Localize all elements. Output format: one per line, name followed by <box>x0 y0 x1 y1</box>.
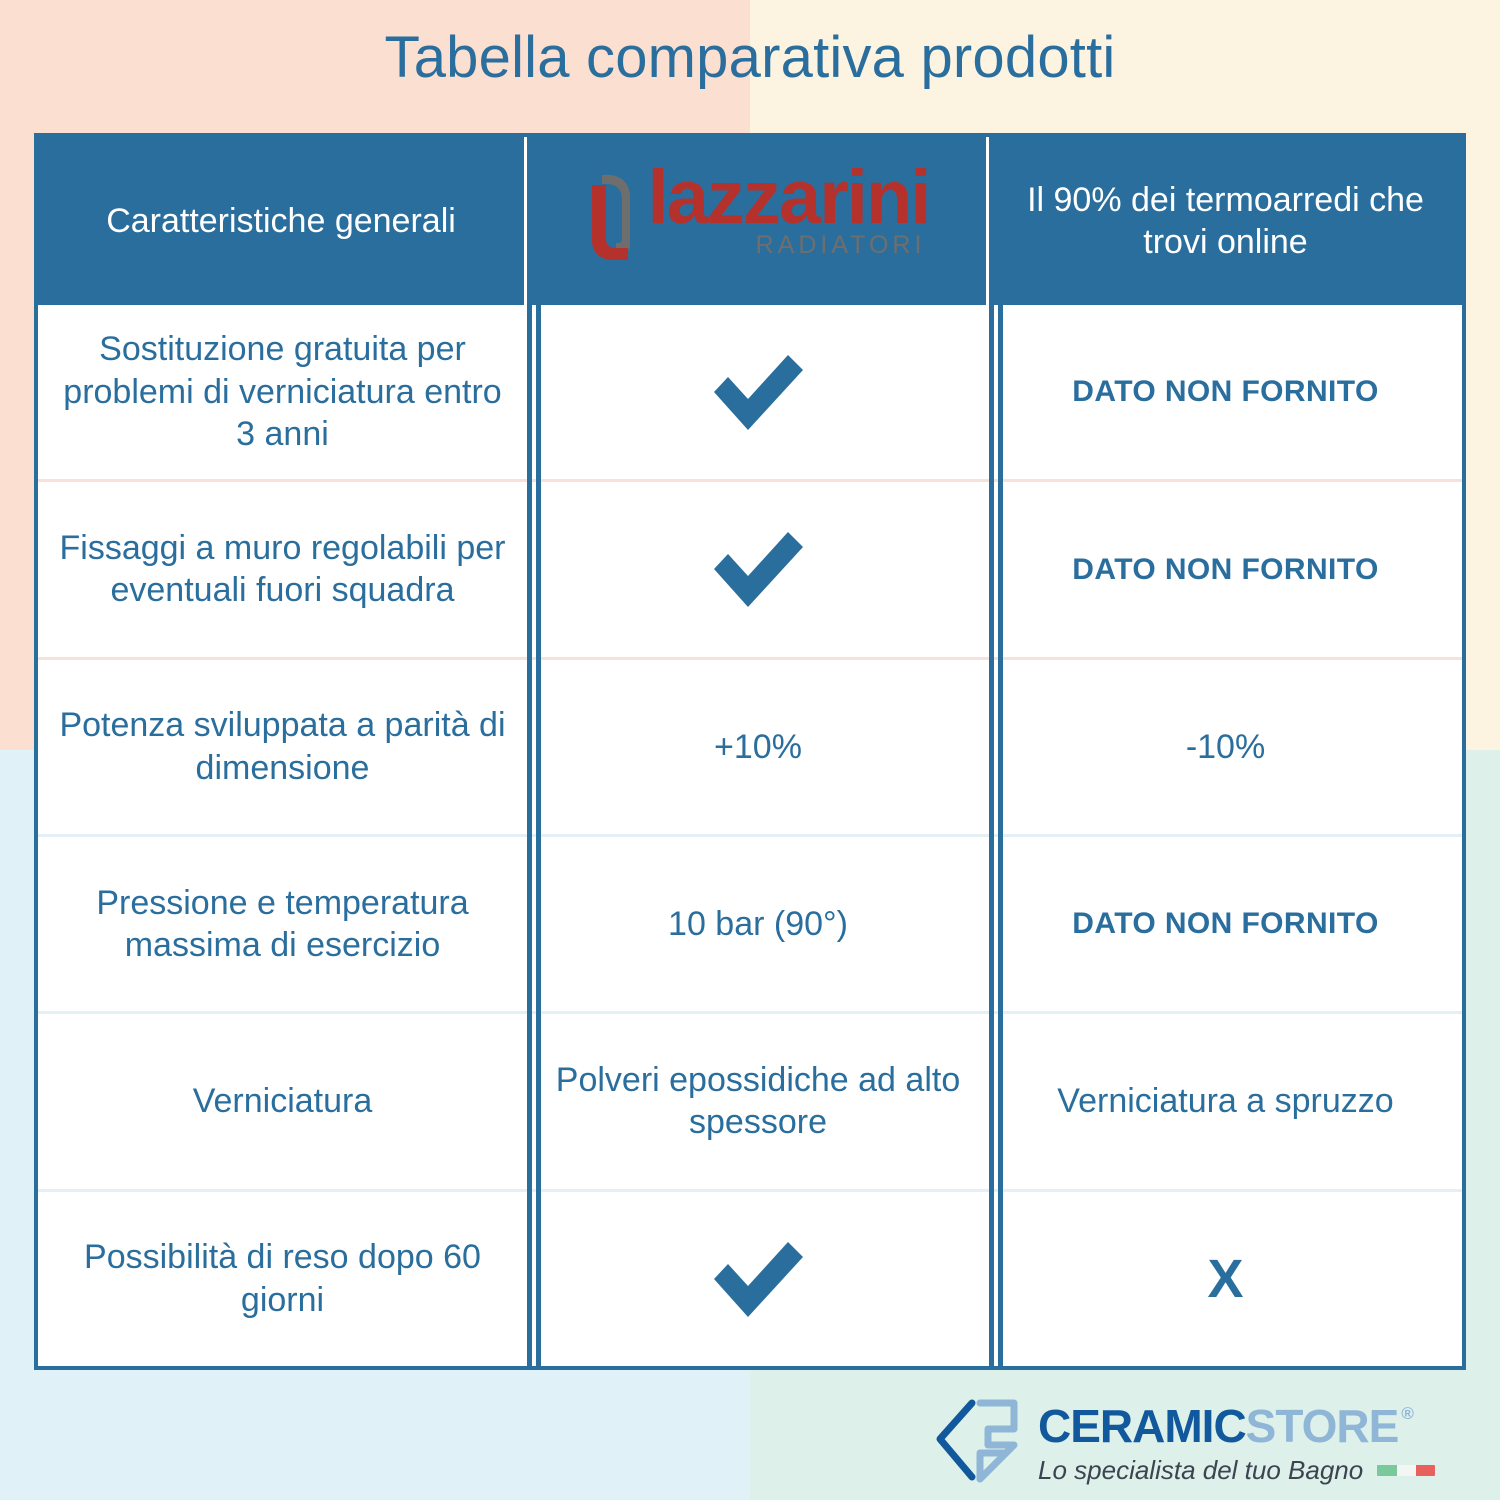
table-row: Verniciatura Polveri epossidiche ad alto… <box>38 1011 1462 1188</box>
row-competitor-value: -10% <box>1186 726 1265 769</box>
comparison-table: Caratteristiche generali lazzarini RADIA… <box>34 133 1466 1370</box>
row-brand-cell <box>527 305 989 479</box>
row-competitor-value: Verniciatura a spruzzo <box>1057 1080 1393 1123</box>
row-competitor-value: DATO NON FORNITO <box>1072 551 1378 589</box>
row-feature-label: Potenza sviluppata a parità di dimension… <box>56 704 509 789</box>
row-competitor-cell: X <box>989 1192 1462 1366</box>
ceramicstore-wordmark: CERAMICSTORE® <box>1038 1403 1435 1449</box>
italy-flag-icon <box>1377 1465 1435 1476</box>
header-cell-brand: lazzarini RADIATORI <box>527 137 989 305</box>
table-row: Fissaggi a muro regolabili per eventuali… <box>38 479 1462 656</box>
ceramicstore-tagline: Lo specialista del tuo Bagno <box>1038 1457 1363 1483</box>
lazzarini-tagline: RADIATORI <box>756 234 926 256</box>
row-brand-value: 10 bar (90°) <box>668 903 848 946</box>
wordmark-store: STORE <box>1246 1403 1399 1449</box>
row-competitor-cell: Verniciatura a spruzzo <box>989 1014 1462 1188</box>
row-feature-cell: Possibilità di reso dopo 60 giorni <box>38 1192 527 1366</box>
lazzarini-mark-icon <box>584 171 642 278</box>
table-row: Potenza sviluppata a parità di dimension… <box>38 657 1462 834</box>
row-feature-cell: Potenza sviluppata a parità di dimension… <box>38 660 527 834</box>
page-title: Tabella comparativa prodotti <box>0 26 1500 90</box>
ceramicstore-text: CERAMICSTORE® Lo specialista del tuo Bag… <box>1038 1403 1435 1483</box>
row-competitor-value: DATO NON FORNITO <box>1072 373 1378 411</box>
row-feature-cell: Sostituzione gratuita per problemi di ve… <box>38 305 527 479</box>
ceramicstore-mark-icon <box>930 1399 1022 1488</box>
row-competitor-value: DATO NON FORNITO <box>1072 905 1378 943</box>
row-brand-cell: Polveri epossidiche ad alto spessore <box>527 1014 989 1188</box>
header-features-label: Caratteristiche generali <box>106 200 456 243</box>
lazzarini-logo: lazzarini RADIATORI <box>545 165 968 278</box>
ceramicstore-tagline-row: Lo specialista del tuo Bagno <box>1038 1457 1435 1483</box>
row-feature-label: Pressione e temperatura massima di eserc… <box>56 882 509 967</box>
row-feature-label: Sostituzione gratuita per problemi di ve… <box>56 328 509 456</box>
row-feature-label: Fissaggi a muro regolabili per eventuali… <box>56 527 509 612</box>
registered-icon: ® <box>1401 1405 1413 1422</box>
table-row: Pressione e temperatura massima di eserc… <box>38 834 1462 1011</box>
cross-icon: X <box>1207 1252 1243 1306</box>
lazzarini-name: lazzarini <box>648 165 930 232</box>
row-brand-cell: 10 bar (90°) <box>527 837 989 1011</box>
row-competitor-cell: DATO NON FORNITO <box>989 482 1462 656</box>
header-cell-competitors: Il 90% dei termoarredi che trovi online <box>989 137 1462 305</box>
wordmark-ceramic: CERAMIC <box>1038 1403 1246 1449</box>
check-icon <box>706 351 810 433</box>
row-brand-cell: +10% <box>527 660 989 834</box>
table-body: Sostituzione gratuita per problemi di ve… <box>38 305 1462 1366</box>
row-brand-cell <box>527 1192 989 1366</box>
ceramicstore-logo: CERAMICSTORE® Lo specialista del tuo Bag… <box>930 1398 1470 1488</box>
header-cell-features: Caratteristiche generali <box>38 137 527 305</box>
row-brand-value: Polveri epossidiche ad alto spessore <box>545 1059 971 1144</box>
row-competitor-cell: -10% <box>989 660 1462 834</box>
check-icon <box>706 528 810 610</box>
table-row: Sostituzione gratuita per problemi di ve… <box>38 305 1462 479</box>
row-feature-cell: Verniciatura <box>38 1014 527 1188</box>
row-brand-value: +10% <box>714 726 802 769</box>
table-header-row: Caratteristiche generali lazzarini RADIA… <box>38 137 1462 305</box>
row-feature-label: Verniciatura <box>193 1080 373 1123</box>
row-feature-cell: Fissaggi a muro regolabili per eventuali… <box>38 482 527 656</box>
row-feature-cell: Pressione e temperatura massima di eserc… <box>38 837 527 1011</box>
row-brand-cell <box>527 482 989 656</box>
row-competitor-cell: DATO NON FORNITO <box>989 305 1462 479</box>
header-competitors-label: Il 90% dei termoarredi che trovi online <box>1007 179 1444 264</box>
table-row: Possibilità di reso dopo 60 giorni X <box>38 1189 1462 1366</box>
row-feature-label: Possibilità di reso dopo 60 giorni <box>56 1236 509 1321</box>
check-icon <box>706 1238 810 1320</box>
lazzarini-wordmark: lazzarini RADIATORI <box>648 165 930 256</box>
row-competitor-cell: DATO NON FORNITO <box>989 837 1462 1011</box>
